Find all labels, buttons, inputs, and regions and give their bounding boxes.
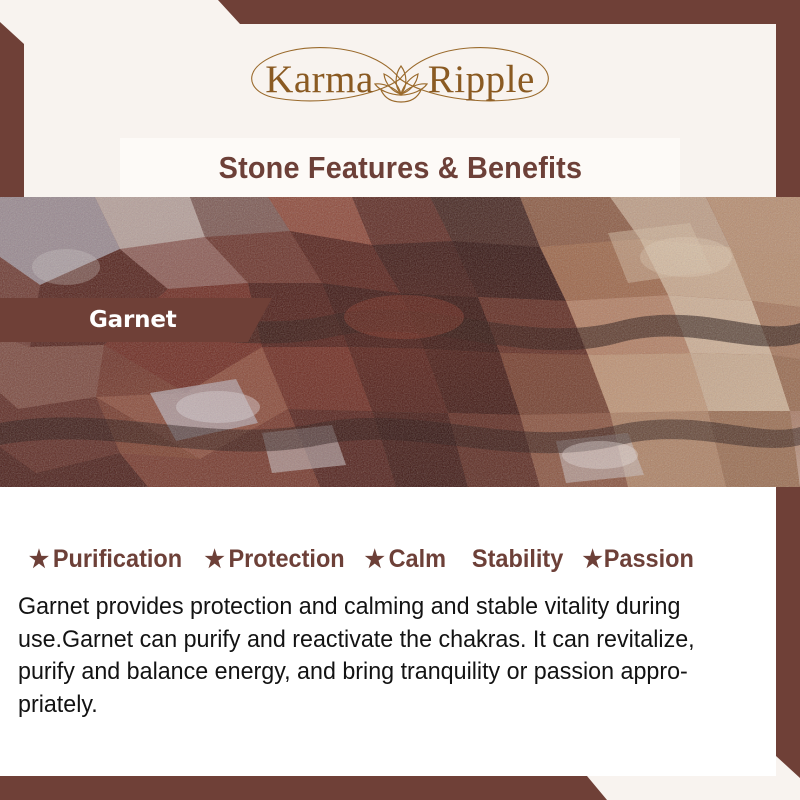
star-icon: ★ [365, 548, 385, 572]
benefit-item-calm: ★ Calm [365, 545, 446, 574]
garnet-crystal-cluster-photo [0, 197, 800, 487]
brand-logo: Karma Ripple [24, 24, 776, 134]
benefit-item-purification: ★ Purification [29, 545, 182, 574]
benefit-label: Protection [228, 545, 344, 574]
brand-name-right: Ripple [428, 57, 535, 102]
page-title: Stone Features & Benefits [218, 150, 582, 186]
content-card: Karma Ripple Stone Features & Bene [24, 24, 776, 776]
title-panel: Stone Features & Benefits [120, 138, 680, 198]
stone-name-banner: Garnet [0, 298, 272, 342]
frame-band-top [0, 0, 800, 24]
benefit-item-protection: ★ Protection [205, 545, 345, 574]
benefits-list: ★ Purification ★ Protection ★ Calm Stabi… [24, 545, 764, 574]
benefit-label: Purification [53, 545, 182, 574]
benefit-item-passion: ★ Passion [583, 545, 694, 574]
infographic-page: Karma Ripple Stone Features & Bene [0, 0, 800, 800]
details-sheet: ★ Purification ★ Protection ★ Calm Stabi… [0, 487, 776, 776]
frame-band-bottom [0, 776, 800, 800]
brand-name-left: Karma [265, 57, 374, 102]
benefit-label: Passion [604, 545, 694, 574]
benefit-label: Calm [389, 545, 446, 574]
benefit-label: Stability [472, 545, 563, 574]
star-icon: ★ [29, 548, 49, 572]
stone-description: Garnet provides protection and calming a… [18, 591, 710, 721]
star-icon: ★ [205, 548, 225, 572]
benefit-item-stability: Stability [472, 545, 563, 574]
star-icon: ★ [583, 548, 603, 572]
stone-name-label: Garnet [89, 307, 177, 333]
